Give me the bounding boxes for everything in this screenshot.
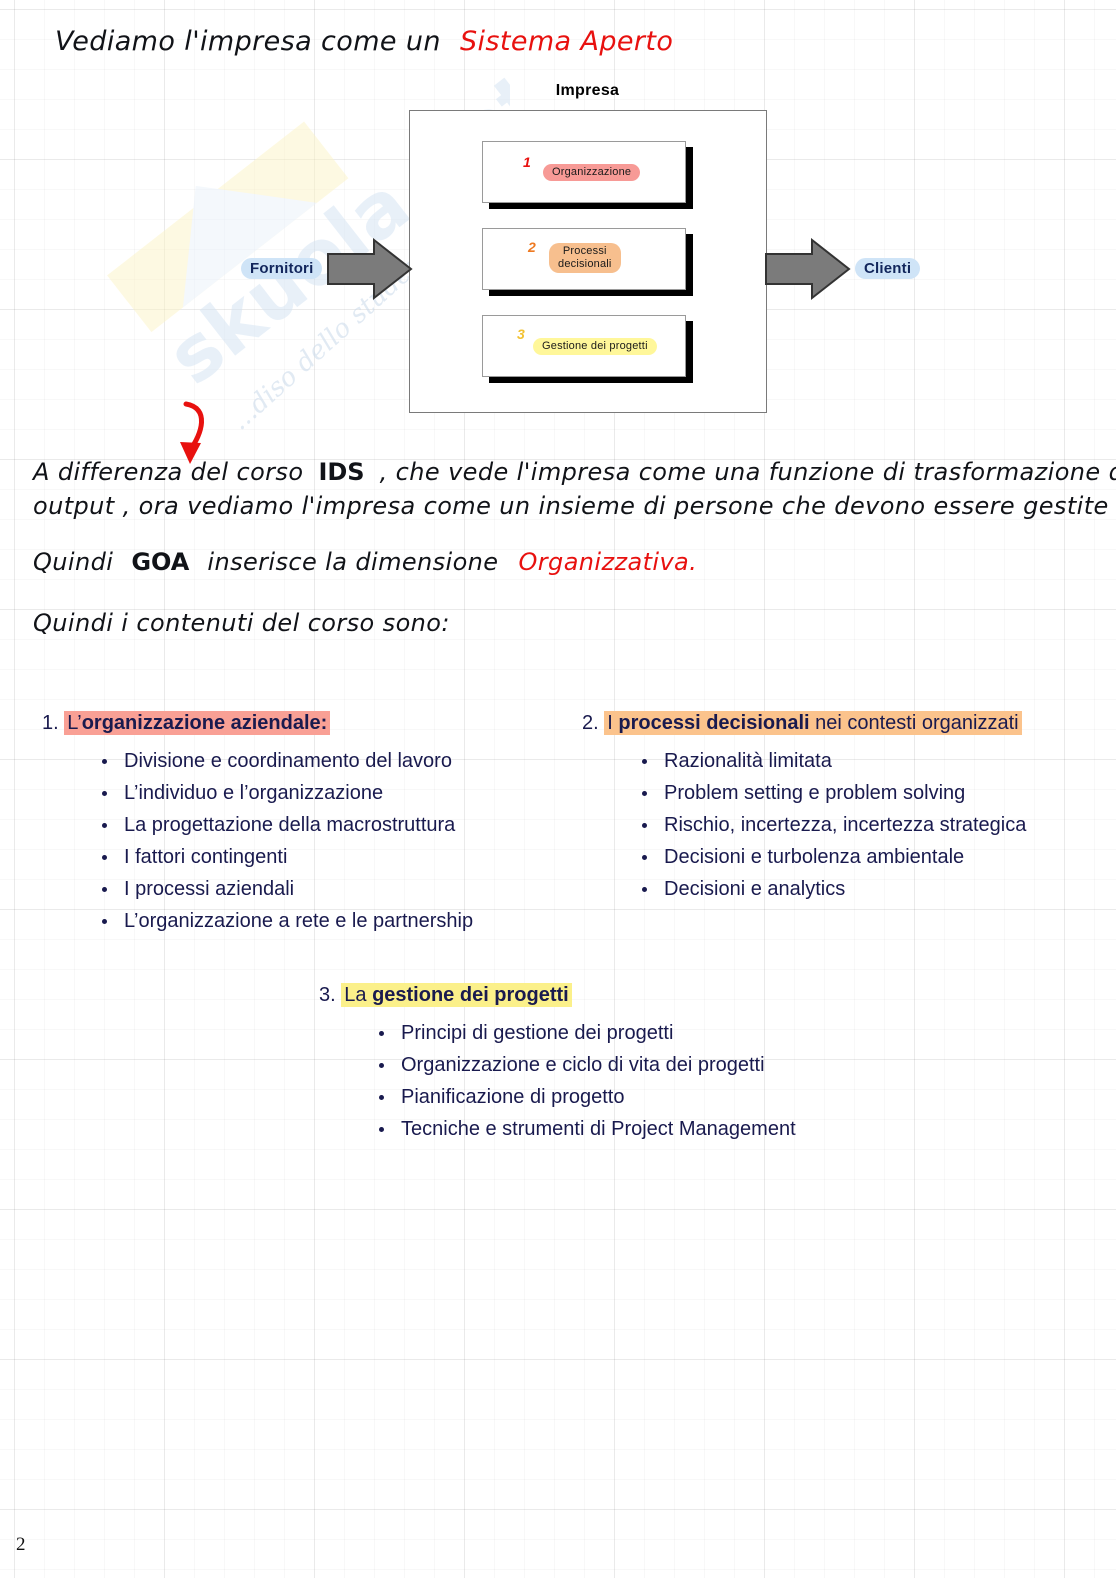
section-1-heading: 1. L’organizzazione aziendale: [42,707,473,739]
quindi-middle: inserisce la dimensione [207,548,498,576]
list-item: Tecniche e strumenti di Project Manageme… [375,1113,796,1145]
list-item: Razionalità limitata [638,745,1026,777]
section-2-head-plain-after: nei contesti organizzati [810,712,1019,734]
list-item: Organizzazione e ciclo di vita dei proge… [375,1049,796,1081]
section-2-heading: 2. I processi decisionali nei contesti o… [582,707,1026,739]
section-2-head-plain-before: I [607,712,618,734]
diagram-title: Impresa [409,82,766,100]
goa-acronym: GOA [131,548,189,576]
section-3-head-bold: gestione dei progetti [372,984,569,1006]
section-2-head-bold: processi decisionali [618,712,809,734]
box-pill-organizzazione: Organizzazione [543,164,640,181]
box-body: 1 Organizzazione [482,141,686,203]
handwritten-quindi-goa: Quindi GOA inserisce la dimensione Organ… [33,548,697,576]
list-item: I fattori contingenti [98,841,473,873]
arrow-outbound-icon [765,238,851,302]
label-fornitori: Fornitori [241,258,322,279]
label-clienti: Clienti [855,258,920,279]
outline-section-processi-decisionali: 2. I processi decisionali nei contesti o… [608,707,1026,905]
handwritten-paragraph-line-2: output , ora vediamo l'impresa come un i… [33,492,1116,520]
section-1-head-bold: organizzazione aziendale: [82,712,328,734]
handwritten-title-highlight: Sistema Aperto [460,26,673,57]
list-item: La progettazione della macrostruttura [98,809,473,841]
section-3-number: 3. [319,984,336,1006]
box-number-3: 3 [517,326,525,342]
page-number: 2 [16,1534,26,1556]
impresa-outer-box: 1 Organizzazione 2 Processi decisionali … [409,110,767,413]
box-body: 3 Gestione dei progetti [482,315,686,377]
list-item: Principi di gestione dei progetti [375,1017,796,1049]
box-body: 2 Processi decisionali [482,228,686,290]
arrow-inbound-icon [327,238,413,302]
box-number-1: 1 [523,154,531,170]
paragraph-bold-ids: IDS [318,458,364,486]
section-1-bullet-list: Divisione e coordinamento del lavoro L’i… [68,745,473,937]
list-item: I processi aziendali [98,873,473,905]
list-item: Rischio, incertezza, incertezza strategi… [638,809,1026,841]
list-item: Pianificazione di progetto [375,1081,796,1113]
box-number-2: 2 [528,239,536,255]
box-pill-gestione-progetti: Gestione dei progetti [533,338,657,355]
list-item: Decisioni e analytics [638,873,1026,905]
list-item: L’organizzazione a rete e le partnership [98,905,473,937]
section-2-bullet-list: Razionalità limitata Problem setting e p… [608,745,1026,905]
list-item: Divisione e coordinamento del lavoro [98,745,473,777]
section-1-head-plain: L’ [67,712,81,734]
section-3-head-plain: La [344,984,372,1006]
paragraph-part-b: , che vede l'impresa come una funzione d… [380,458,1116,486]
section-1-number: 1. [42,712,59,734]
handwritten-quindi-contenuti: Quindi i contenuti del corso sono: [33,609,450,637]
list-item: L’individuo e l’organizzazione [98,777,473,809]
outline-section-organizzazione-aziendale: 1. L’organizzazione aziendale: Divisione… [68,707,473,937]
box-pill-processi-decisionali: Processi decisionali [549,243,621,273]
section-3-heading: 3. La gestione dei progetti [319,979,796,1011]
quindi-word: Quindi [33,548,113,576]
list-item: Decisioni e turbolenza ambientale [638,841,1026,873]
list-item: Problem setting e problem solving [638,777,1026,809]
section-3-bullet-list: Principi di gestione dei progetti Organi… [345,1017,796,1145]
notebook-page: skuola.net ...diso dello studente Vediam… [0,0,1116,1578]
red-curved-arrow-icon [160,398,270,468]
handwritten-title: Vediamo l'impresa come un Sistema Aperto [55,26,673,57]
section-2-number: 2. [582,712,599,734]
handwritten-title-prefix: Vediamo l'impresa come un [55,26,441,57]
outline-section-gestione-progetti: 3. La gestione dei progetti Principi di … [345,979,796,1145]
organizzativa-red: Organizzativa. [519,548,698,576]
open-system-diagram: Impresa 1 Organizzazione 2 Processi deci… [0,0,1116,440]
